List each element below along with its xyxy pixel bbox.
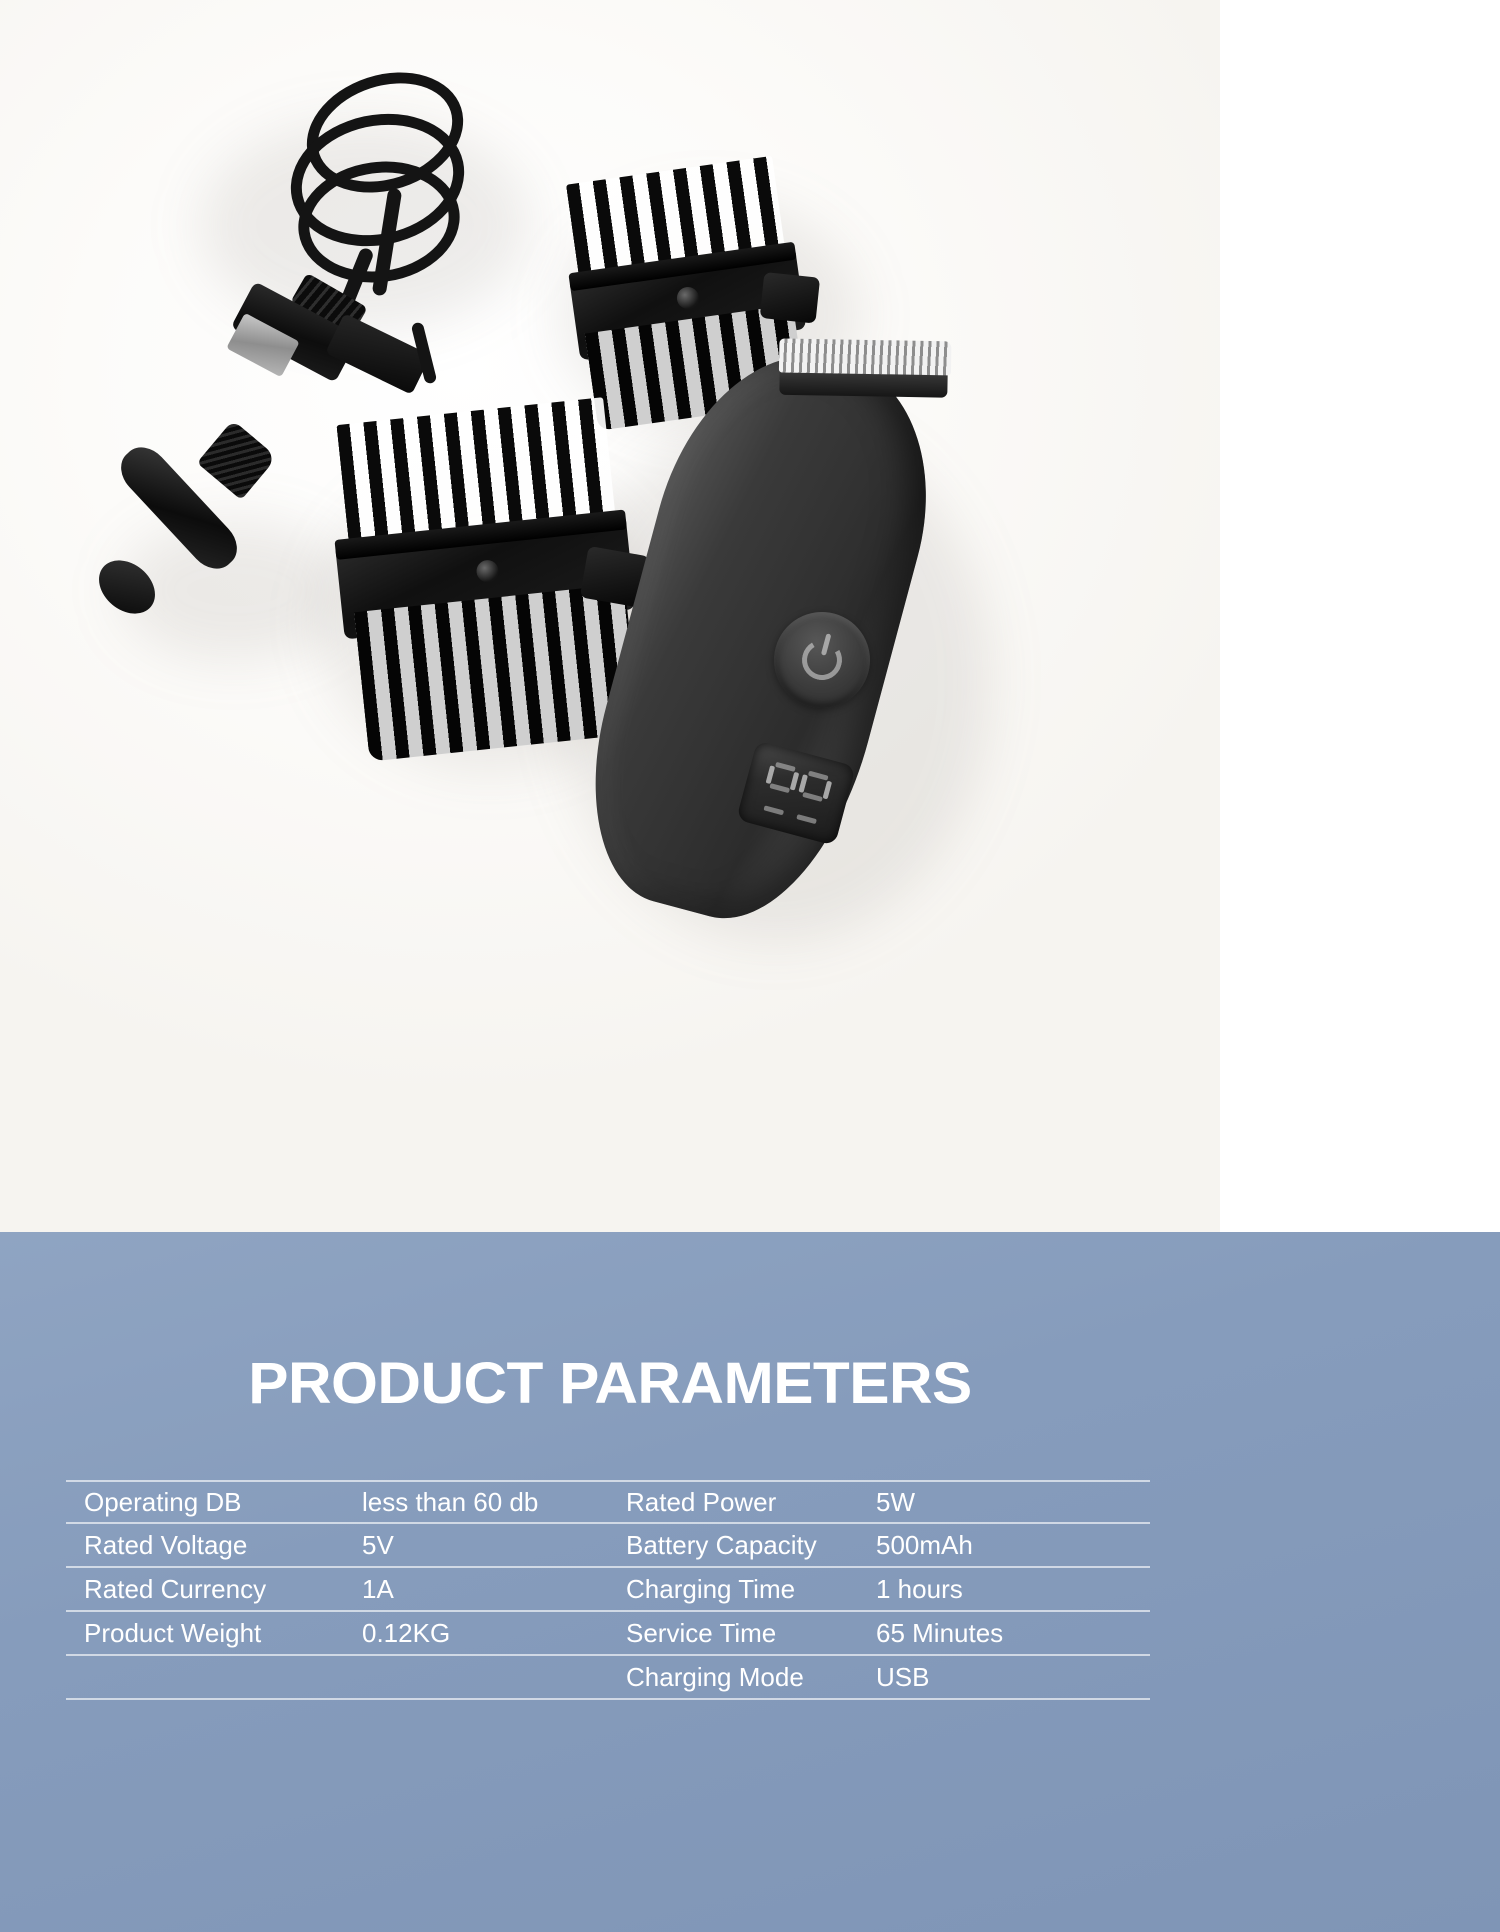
cleaning-brush <box>100 430 285 645</box>
parameters-column-right: Rated Power 5W Battery Capacity 500mAh C… <box>608 1480 1150 1700</box>
param-label: Service Time <box>626 1618 876 1649</box>
param-label: Product Weight <box>84 1618 362 1649</box>
param-label: Rated Voltage <box>84 1530 362 1561</box>
product-parameters-panel: PRODUCT PARAMETERS Operating DB less tha… <box>0 1232 1500 1932</box>
hair-trimmer <box>590 340 1090 930</box>
param-label: Rated Currency <box>84 1574 362 1605</box>
param-value: USB <box>876 1662 929 1693</box>
table-row: Charging Mode USB <box>608 1656 1150 1700</box>
param-value: 5W <box>876 1487 915 1518</box>
param-value: 0.12KG <box>362 1618 450 1649</box>
product-detail-page: PRODUCT PARAMETERS Operating DB less tha… <box>0 0 1500 1932</box>
param-value: 1 hours <box>876 1574 963 1605</box>
table-row: Charging Time 1 hours <box>608 1568 1150 1612</box>
table-row: Operating DB less than 60 db <box>66 1480 608 1524</box>
params-title: PRODUCT PARAMETERS <box>0 1350 1244 1417</box>
table-row: Product Weight 0.12KG <box>66 1612 608 1656</box>
table-row: Rated Currency 1A <box>66 1568 608 1612</box>
param-label: Battery Capacity <box>626 1530 876 1561</box>
table-row: Service Time 65 Minutes <box>608 1612 1150 1656</box>
param-value: 500mAh <box>876 1530 973 1561</box>
param-label: Rated Power <box>626 1487 876 1518</box>
param-value: less than 60 db <box>362 1487 538 1518</box>
table-row: Battery Capacity 500mAh <box>608 1524 1150 1568</box>
param-value: 1A <box>362 1574 394 1605</box>
param-value: 65 Minutes <box>876 1618 1003 1649</box>
param-label: Operating DB <box>84 1487 362 1518</box>
param-value: 5V <box>362 1530 394 1561</box>
power-icon <box>798 636 847 685</box>
param-label: Charging Time <box>626 1574 876 1605</box>
usb-charging-cable <box>170 70 550 440</box>
table-row: Rated Power 5W <box>608 1480 1150 1524</box>
table-row <box>66 1656 608 1700</box>
param-label: Charging Mode <box>626 1662 876 1693</box>
parameters-table: Operating DB less than 60 db Rated Volta… <box>66 1480 1150 1700</box>
table-row: Rated Voltage 5V <box>66 1524 608 1568</box>
product-photo <box>0 0 1220 1232</box>
parameters-column-left: Operating DB less than 60 db Rated Volta… <box>66 1480 608 1700</box>
